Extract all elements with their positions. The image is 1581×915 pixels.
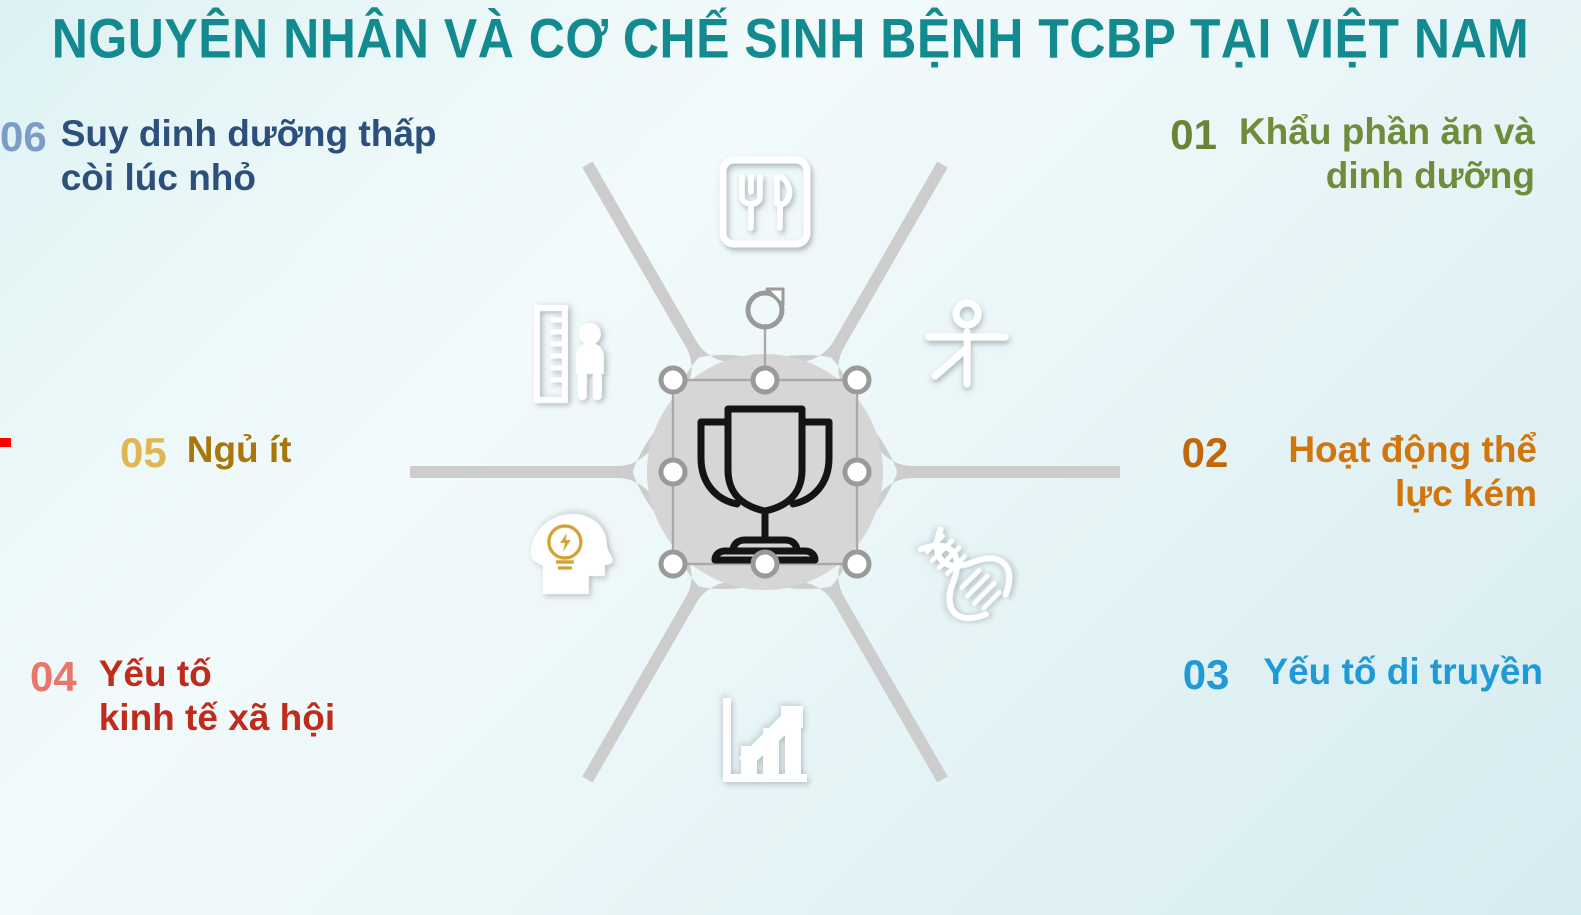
label-text-06: Suy dinh dưỡng thấpcòi lúc nhỏ — [61, 112, 437, 199]
bar-chart-arrow-icon — [723, 698, 807, 782]
petal-04-socioeconomic[interactable] — [615, 580, 915, 816]
label-number-01: 01 — [1170, 110, 1217, 160]
label-number-04: 04 — [30, 652, 77, 702]
label-number-06: 06 — [0, 112, 47, 162]
label-number-03: 03 — [1183, 650, 1230, 700]
handle-middle-left[interactable] — [661, 460, 685, 484]
label-text-04: Yếu tốkinh tế xã hội — [99, 652, 335, 739]
label-text-05: Ngủ ít — [187, 428, 292, 472]
height-ruler-person-icon — [537, 308, 604, 400]
label-number-02: 02 — [1182, 428, 1229, 478]
handle-bottom-center[interactable] — [753, 552, 777, 576]
head-lightbulb-icon — [531, 514, 613, 594]
connector-left — [410, 416, 669, 528]
fork-knife-icon — [723, 160, 807, 244]
handle-top-center[interactable] — [753, 368, 777, 392]
rotate-icon[interactable] — [748, 289, 783, 327]
stray-red-mark — [0, 438, 11, 447]
exercise-person-icon — [929, 303, 1005, 384]
page-title: NGUYÊN NHÂN VÀ CƠ CHẾ SINH BỆNH TCBP TẠI… — [0, 6, 1581, 71]
label-text-03: Yếu tố di truyền — [1263, 650, 1543, 694]
label-text-01: Khẩu phần ăn vàdinh dưỡng — [1239, 110, 1535, 197]
hexagon-petal-diagram — [385, 92, 1145, 852]
label-text-02: Hoạt động thểlực kém — [1288, 428, 1537, 515]
connector-right — [861, 416, 1120, 528]
label-number-05: 05 — [120, 428, 167, 478]
handle-top-right[interactable] — [845, 368, 869, 392]
handle-middle-right[interactable] — [845, 460, 869, 484]
dna-helix-icon — [906, 515, 1021, 630]
handle-bottom-right[interactable] — [845, 552, 869, 576]
handle-top-left[interactable] — [661, 368, 685, 392]
handle-bottom-left[interactable] — [661, 552, 685, 576]
